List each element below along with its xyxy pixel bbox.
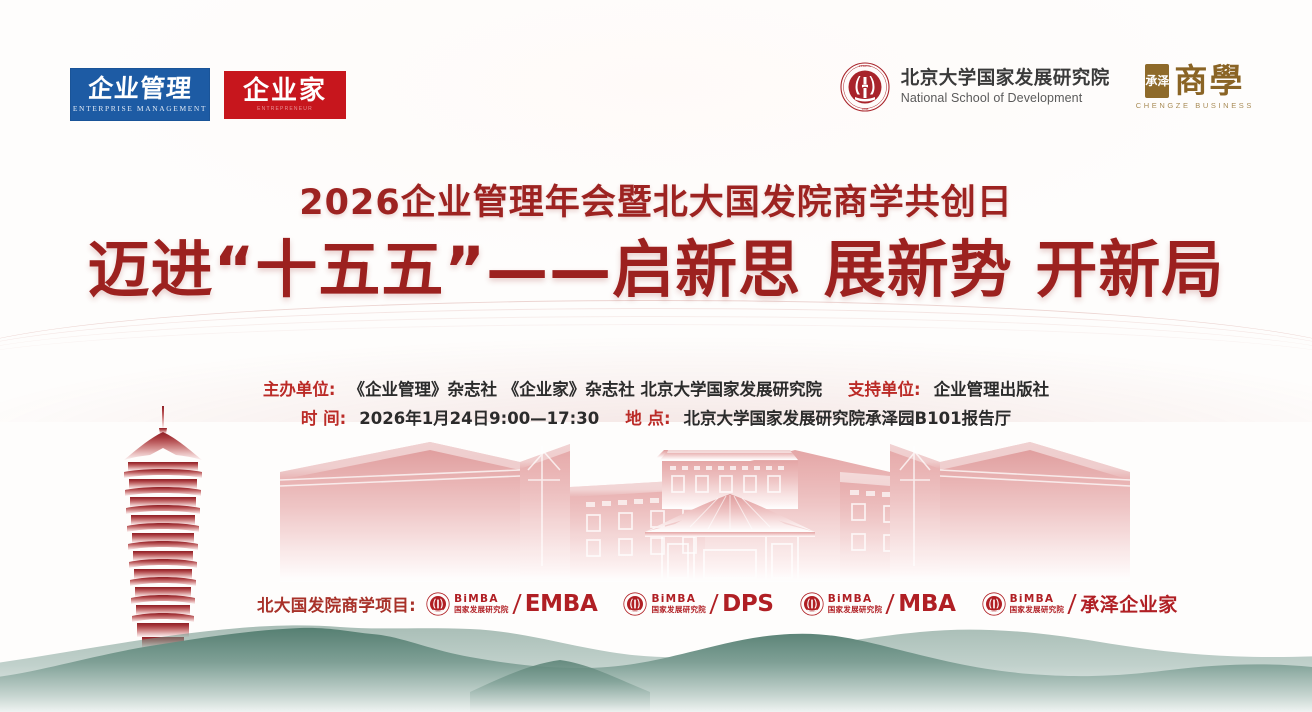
event-subtitle: 2026企业管理年会暨北大国发院商学共创日 [0,174,1312,225]
event-main-title: 迈进“十五五”——启新思 展新势 开新局 [0,233,1312,307]
logo-enterprise-management-en: ENTERPRISE MANAGEMENT [73,104,207,113]
ribbon-line-2 [0,308,1312,361]
place-value: 北京大学国家发展研究院承泽园B101报告厅 [684,409,1012,428]
svg-text:PEKING: PEKING [859,64,872,68]
svg-text:1898: 1898 [861,107,868,111]
logo-national-school-of-development: PEKING 1898 北京大学国家发展研究院 National School … [840,62,1110,112]
support-value: 企业管理出版社 [934,380,1050,399]
ribbon-line-3 [0,316,1312,363]
logo-entrepreneur-en: ENTREPRENEUR [257,106,313,112]
chengze-cn: 商學 [1174,64,1244,98]
nsd-text-block: 北京大学国家发展研究院 National School of Developme… [901,68,1110,106]
logo-chengze-business: 承泽 商學 CHENGZE BUSINESS [1136,64,1254,110]
nsd-name-cn: 北京大学国家发展研究院 [901,68,1110,89]
header-left-logos: 企业管理 ENTERPRISE MANAGEMENT 企业家 ENTREPREN… [70,68,346,121]
poster-canvas: 企业管理 ENTERPRISE MANAGEMENT 企业家 ENTREPREN… [0,0,1312,712]
organizer-label: 主办单位: [263,380,336,399]
header-right-logos: PEKING 1898 北京大学国家发展研究院 National School … [840,62,1254,112]
logo-enterprise-management: 企业管理 ENTERPRISE MANAGEMENT [70,68,210,121]
logo-enterprise-management-cn: 企业管理 [87,76,193,102]
pku-seal-icon: PEKING 1898 [840,62,890,112]
chengze-top-row: 承泽 商學 [1145,64,1244,98]
mountain-range-illustration [0,602,1312,712]
time-value: 2026年1月24日9:00—17:30 [359,409,599,428]
time-label: 时 间: [301,409,346,428]
nsd-name-en: National School of Development [901,90,1110,106]
chengze-building-illustration [270,432,1140,582]
logo-entrepreneur: 企业家 ENTREPRENEUR [224,71,346,119]
organizer-value: 《企业管理》杂志社 《企业家》杂志社 北京大学国家发展研究院 [349,380,823,399]
chengze-stamp: 承泽 [1145,64,1169,98]
building-left-wing [280,442,570,582]
chengze-en: CHENGZE BUSINESS [1136,101,1254,110]
ribbon-line-4 [0,324,1312,365]
building-right-mid [580,472,840,582]
building-right-wing [890,442,1130,582]
ribbon-line-1 [0,300,1312,361]
support-label: 支持单位: [848,380,921,399]
logo-entrepreneur-cn: 企业家 [243,78,327,105]
place-label: 地 点: [625,409,670,428]
